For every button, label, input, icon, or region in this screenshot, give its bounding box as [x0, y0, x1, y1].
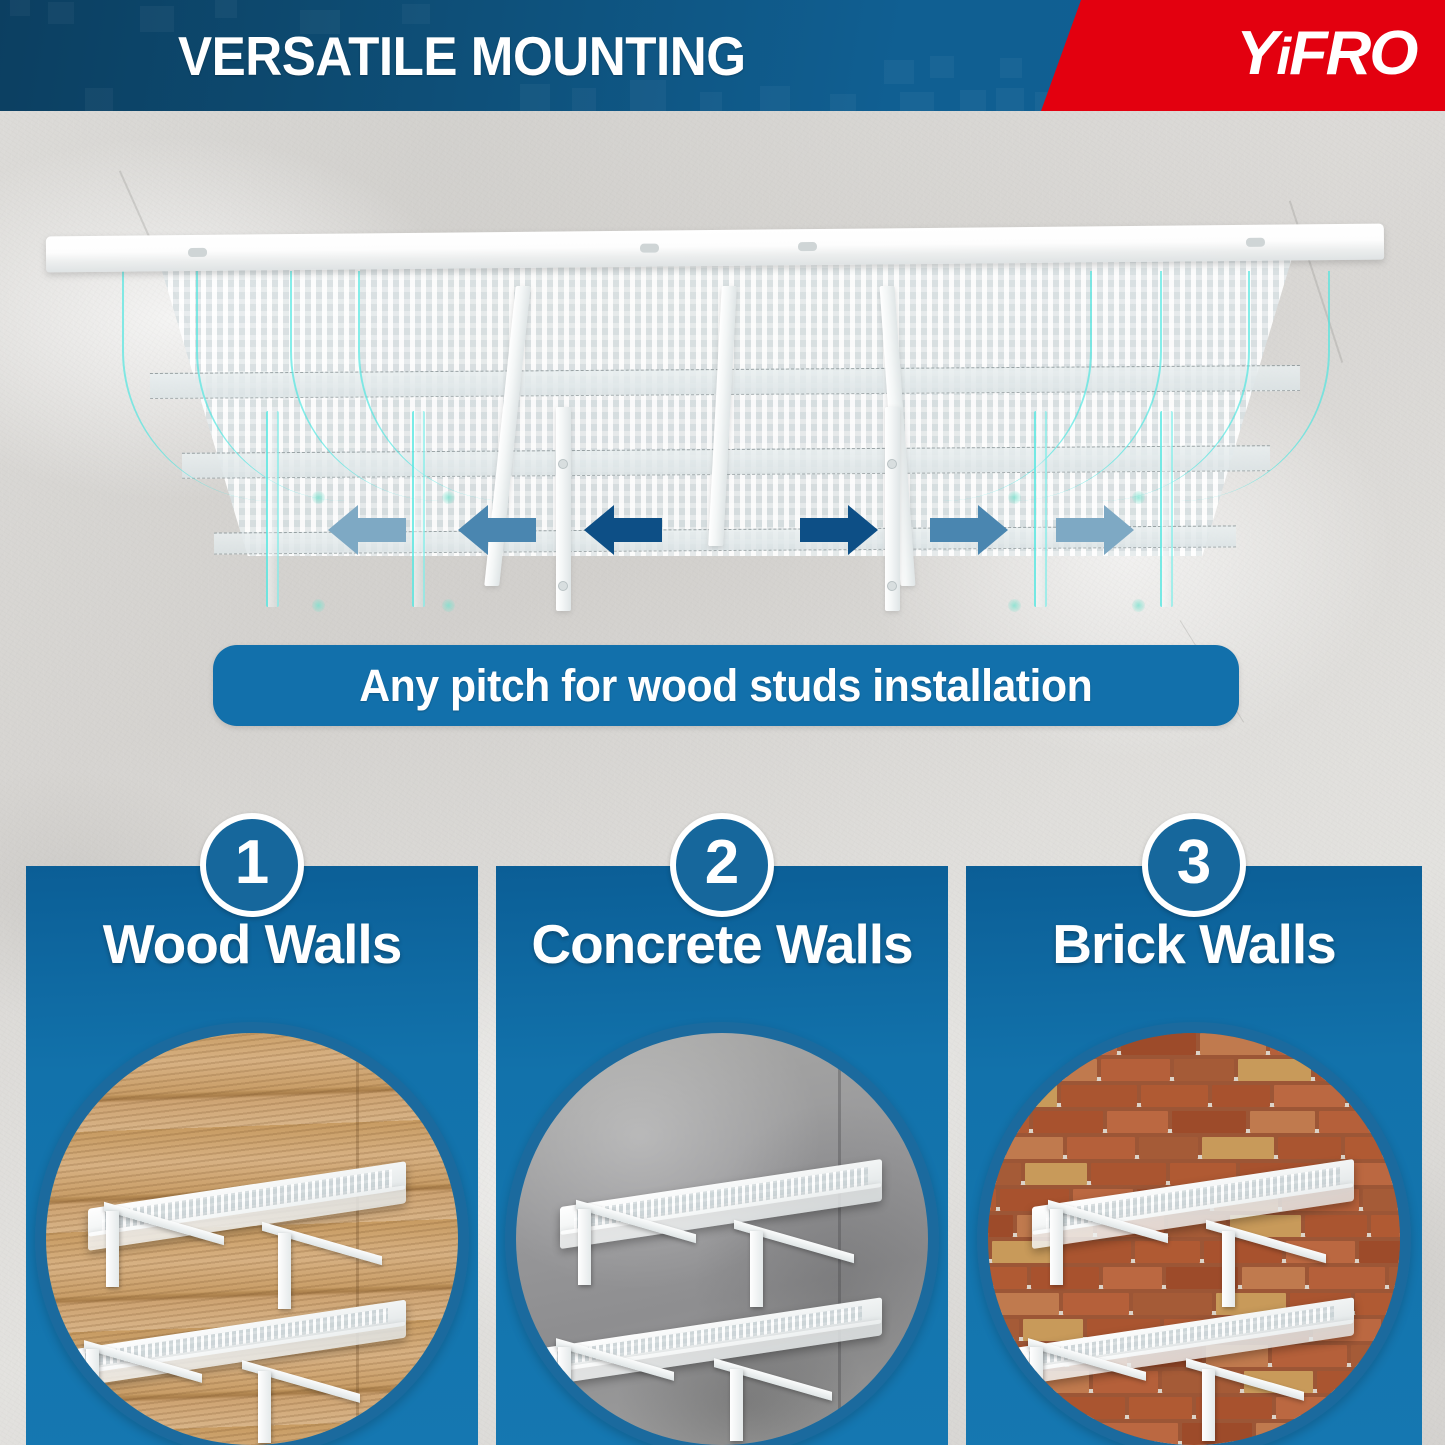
brick: [1381, 1371, 1411, 1393]
brick: [1107, 1111, 1168, 1133]
brick: [977, 1111, 1029, 1133]
brick: [1397, 1163, 1411, 1185]
anchor-point: [312, 599, 325, 612]
brand-logo-y: Y: [1237, 19, 1277, 88]
brick-course: [977, 1033, 1411, 1055]
brick: [1401, 1111, 1411, 1133]
brick: [1023, 1319, 1083, 1341]
brick: [1174, 1059, 1234, 1081]
brick: [1212, 1085, 1270, 1107]
brick: [977, 1371, 1011, 1393]
brick: [1371, 1215, 1411, 1237]
brick: [1182, 1423, 1252, 1445]
adjust-arrow-left-inner: [584, 503, 662, 557]
wood-wall-surface: [46, 1033, 458, 1445]
card-number-badge: 1: [200, 813, 304, 917]
brick: [1385, 1319, 1411, 1341]
brick: [1355, 1293, 1411, 1315]
ghost-bracket-leg: [1160, 411, 1173, 607]
rail-slot: [1246, 238, 1265, 247]
brick: [1305, 1215, 1367, 1237]
concrete-wall-photo: [505, 1022, 939, 1445]
anchor-point: [1008, 599, 1021, 612]
shelf-lower-bracket-left: [1030, 1347, 1043, 1419]
brick: [1019, 1059, 1097, 1081]
brick: [977, 1163, 1021, 1185]
brick: [977, 1059, 1015, 1081]
card-number-badge: 2: [670, 813, 774, 917]
brick: [1238, 1059, 1311, 1081]
brick-course: [977, 1137, 1411, 1159]
shelf-lower-bracket-left: [558, 1347, 571, 1419]
brick: [1399, 1423, 1411, 1445]
infographic-page: VERSATILE MOUNTING YiFRO: [0, 0, 1445, 1445]
adjust-arrow-right-mid: [930, 503, 1008, 557]
bracket-screw: [558, 581, 568, 591]
card-brick-walls[interactable]: 3 Brick Walls: [966, 866, 1422, 1445]
brick: [1091, 1163, 1166, 1185]
brick: [1202, 1137, 1274, 1159]
brick: [1063, 1293, 1129, 1315]
adjust-arrow-left-mid: [458, 503, 536, 557]
brick-course: [977, 1111, 1411, 1133]
brick: [977, 1397, 986, 1419]
brick: [1256, 1423, 1317, 1445]
brick: [1141, 1085, 1208, 1107]
brick: [1135, 1241, 1200, 1263]
brick: [977, 1319, 1019, 1341]
brick: [1317, 1371, 1377, 1393]
brick: [1057, 1241, 1131, 1263]
adjust-arrow-right-inner: [800, 503, 878, 557]
brand-logo: YiFRO: [1237, 18, 1417, 89]
ghost-bracket-leg: [266, 411, 279, 607]
anchor-point: [442, 599, 455, 612]
brick: [977, 1215, 1013, 1237]
anchor-point: [1008, 491, 1021, 504]
hero-product-illustration: [0, 111, 1445, 631]
brick: [986, 1137, 1063, 1159]
bracket-screw: [887, 459, 897, 469]
brick: [1031, 1267, 1099, 1289]
brick: [1345, 1137, 1411, 1159]
shelf-upper-bracket-left: [578, 1209, 591, 1285]
card-title-wood-walls: Wood Walls: [26, 912, 478, 976]
shelf-lower-bracket-right: [258, 1371, 271, 1443]
adjust-arrow-right-outer: [1056, 503, 1134, 557]
brick: [1242, 1267, 1305, 1289]
anchor-point: [1132, 599, 1145, 612]
ghost-bracket-leg: [412, 411, 425, 607]
brick: [1121, 1033, 1196, 1055]
shelf-lower-bracket-right: [1202, 1369, 1215, 1441]
shelf-upper-bracket-right: [278, 1233, 291, 1309]
brick: [977, 1293, 980, 1315]
bracket-screw: [887, 581, 897, 591]
brick: [1309, 1267, 1385, 1289]
rail-slot: [188, 248, 207, 257]
brick: [1319, 1111, 1397, 1133]
bracket-screw: [558, 459, 568, 469]
card-number-badge: 3: [1142, 813, 1246, 917]
brick: [1139, 1137, 1198, 1159]
brick: [1103, 1267, 1162, 1289]
brick: [1321, 1423, 1395, 1445]
brick: [1033, 1111, 1103, 1133]
card-number: 1: [235, 832, 269, 898]
brick: [1409, 1397, 1411, 1419]
brick: [984, 1293, 1059, 1315]
feature-banner: Any pitch for wood studs installation: [213, 645, 1239, 726]
brand-logo-fro: FRO: [1289, 19, 1416, 88]
brick: [977, 1137, 982, 1159]
brick: [1359, 1241, 1411, 1263]
brick: [977, 1345, 994, 1367]
card-wood-walls[interactable]: 1 Wood Walls: [26, 866, 478, 1445]
brick: [1315, 1059, 1379, 1081]
brick: [1383, 1059, 1411, 1081]
brick: [1278, 1137, 1341, 1159]
brick: [1172, 1111, 1246, 1133]
brick: [1133, 1293, 1212, 1315]
shelf-lower-bracket-right: [730, 1369, 743, 1441]
brick: [1099, 1423, 1178, 1445]
brand-logo-i: i: [1277, 28, 1290, 86]
brick-wall-surface: [988, 1033, 1400, 1445]
rail-slot: [798, 242, 817, 251]
brick: [1389, 1267, 1411, 1289]
brick: [1200, 1033, 1266, 1055]
brick: [1353, 1033, 1411, 1055]
brick: [1025, 1163, 1087, 1185]
brick: [1270, 1033, 1349, 1055]
card-title-brick-walls: Brick Walls: [966, 912, 1422, 976]
brick: [1055, 1033, 1117, 1055]
brick: [977, 1423, 1025, 1445]
wall-type-cards: 1 Wood Walls: [26, 866, 1422, 1445]
brick: [977, 1267, 1027, 1289]
brick: [1053, 1397, 1125, 1419]
concrete-panel-seam: [838, 1033, 841, 1445]
anchor-point: [442, 491, 455, 504]
brick: [977, 1189, 996, 1211]
brick: [1061, 1085, 1137, 1107]
shelf-upper-bracket-left: [1050, 1209, 1063, 1285]
brick: [980, 1033, 1051, 1055]
anchor-point: [312, 491, 325, 504]
brick: [1274, 1085, 1345, 1107]
feature-banner-text: Any pitch for wood studs installation: [360, 660, 1093, 712]
page-header: VERSATILE MOUNTING YiFRO: [0, 0, 1445, 111]
brick: [1351, 1345, 1411, 1367]
brick: [977, 1241, 988, 1263]
brick: [1101, 1059, 1170, 1081]
shelf-upper-bracket-left: [106, 1211, 119, 1287]
wood-panel-seam: [356, 1033, 359, 1445]
brick: [1029, 1423, 1095, 1445]
brick-course: [977, 1423, 1411, 1445]
shelf-lower-bracket-left: [86, 1349, 99, 1421]
brick: [1250, 1111, 1315, 1133]
card-title-concrete-walls: Concrete Walls: [496, 912, 948, 976]
rail-slot: [640, 244, 659, 253]
adjust-arrow-left-outer: [328, 503, 406, 557]
brick: [1276, 1397, 1343, 1419]
ghost-bracket-leg: [1034, 411, 1047, 607]
brick-course: [977, 1267, 1411, 1289]
brick-course: [977, 1059, 1411, 1081]
brick-course: [977, 1085, 1411, 1107]
card-concrete-walls[interactable]: 2 Concrete Walls: [496, 866, 948, 1445]
brick: [1347, 1397, 1405, 1419]
card-number: 3: [1177, 832, 1211, 898]
shelf-upper-bracket-right: [750, 1231, 763, 1307]
brick: [1272, 1345, 1347, 1367]
brick: [1363, 1189, 1411, 1211]
brick-wall-photo: [977, 1022, 1411, 1445]
wood-wall-photo: [35, 1022, 469, 1445]
page-title: VERSATILE MOUNTING: [178, 24, 746, 88]
concrete-wall-surface: [516, 1033, 928, 1445]
shelf-upper-bracket-right: [1222, 1231, 1235, 1307]
brick: [994, 1085, 1057, 1107]
brick: [1129, 1397, 1192, 1419]
brick: [977, 1085, 990, 1107]
card-number: 2: [705, 832, 739, 898]
brick: [1067, 1137, 1135, 1159]
brick: [1349, 1085, 1411, 1107]
